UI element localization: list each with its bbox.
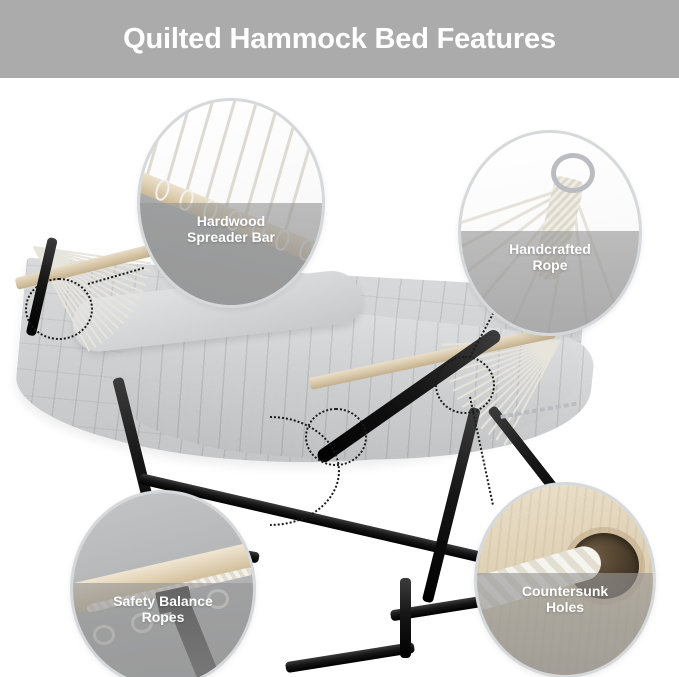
callout-label-line1: Hardwood [187,213,275,229]
callout-label-line1: Countersunk [522,583,608,599]
callout-label-line2: Rope [509,257,591,273]
callout-label-line2: Spreader Bar [187,229,275,245]
callout-label-line2: Ropes [113,609,213,625]
marker-spreader-bar [25,278,93,340]
callout-caption-handcrafted-rope: Handcrafted Rope [461,231,639,333]
marker-handcrafted-rope [435,356,495,414]
callout-label-line2: Holes [522,599,608,615]
callout-hardwood-spreader-bar[interactable]: Hardwood Spreader Bar [137,98,325,308]
page-title: Quilted Hammock Bed Features [123,23,556,56]
callout-caption-safety-balance-ropes: Safety Balance Ropes [73,583,253,677]
stand-foot-right-post [400,578,411,658]
callout-handcrafted-rope[interactable]: Handcrafted Rope [458,130,642,336]
stand-foot-right-front [285,642,415,673]
callout-safety-balance-ropes[interactable]: Safety Balance Ropes [70,490,256,677]
callout-caption-spreader-bar: Hardwood Spreader Bar [140,203,322,305]
callout-caption-countersunk-holes: Countersunk Holes [477,573,653,675]
metal-ring [551,153,595,193]
product-feature-infographic: Quilted Hammock Bed Features [0,0,679,677]
header-banner: Quilted Hammock Bed Features [0,0,679,78]
callout-label-line1: Handcrafted [509,241,591,257]
rope-fan-right [560,340,679,450]
callout-countersunk-holes[interactable]: Countersunk Holes [474,482,656,677]
callout-label-line1: Safety Balance [113,593,213,609]
product-photo: Hardwood Spreader Bar [0,78,679,677]
